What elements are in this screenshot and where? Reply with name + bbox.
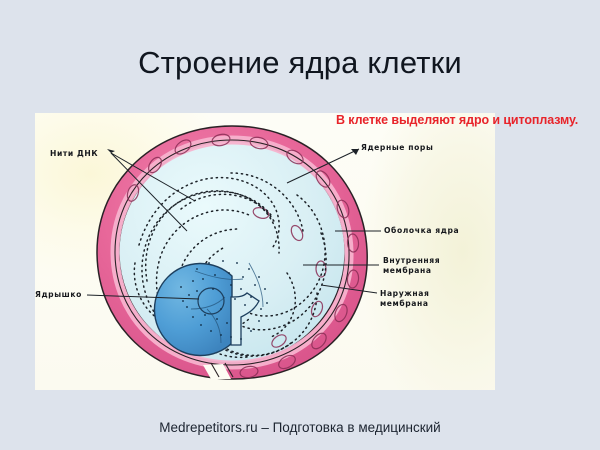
annotation-text: В клетке выделяют ядро и цитоплазму. [336,113,578,127]
footer-caption: Medrepetitors.ru – Подготовка в медицинс… [0,420,600,435]
label-dna-threads: Нити ДНК [50,149,98,159]
label-inner-membrane-line2: мембрана [383,266,432,275]
nucleus-illustration [35,113,495,390]
label-nucleolus: Ядрышко [35,290,82,300]
label-nuclear-envelope: Оболочка ядра [384,226,459,236]
label-outer-membrane: Наружная мембрана [380,289,429,308]
label-inner-membrane: Внутренняя мембрана [383,256,440,275]
label-inner-membrane-line1: Внутренняя [383,256,440,265]
label-outer-membrane-line1: Наружная [380,289,429,298]
page-title: Строение ядра клетки [0,44,600,82]
cell-nucleus-diagram: Нити ДНК Ядрышко Ядерные поры Оболочка я… [35,113,495,390]
label-outer-membrane-line2: мембрана [380,299,429,308]
label-nuclear-pores: Ядерные поры [361,143,433,153]
